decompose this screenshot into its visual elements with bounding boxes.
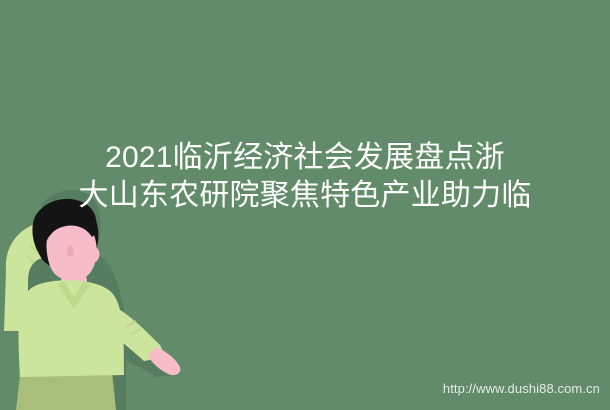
headline-text: 2021临沂经济社会发展盘点浙 大山东农研院聚焦特色产业助力临: [0, 139, 610, 215]
thumbnail-canvas: 2021临沂经济社会发展盘点浙 大山东农研院聚焦特色产业助力临 http://w…: [0, 0, 610, 410]
watermark-url: http://www.dushi88.com.cn: [443, 381, 600, 396]
headline-line-1: 2021临沂经济社会发展盘点浙: [0, 139, 610, 177]
pants-shape: [16, 371, 116, 410]
person-illustration: [0, 185, 200, 410]
headline-line-2: 大山东农研院聚焦特色产业助力临: [0, 177, 610, 215]
